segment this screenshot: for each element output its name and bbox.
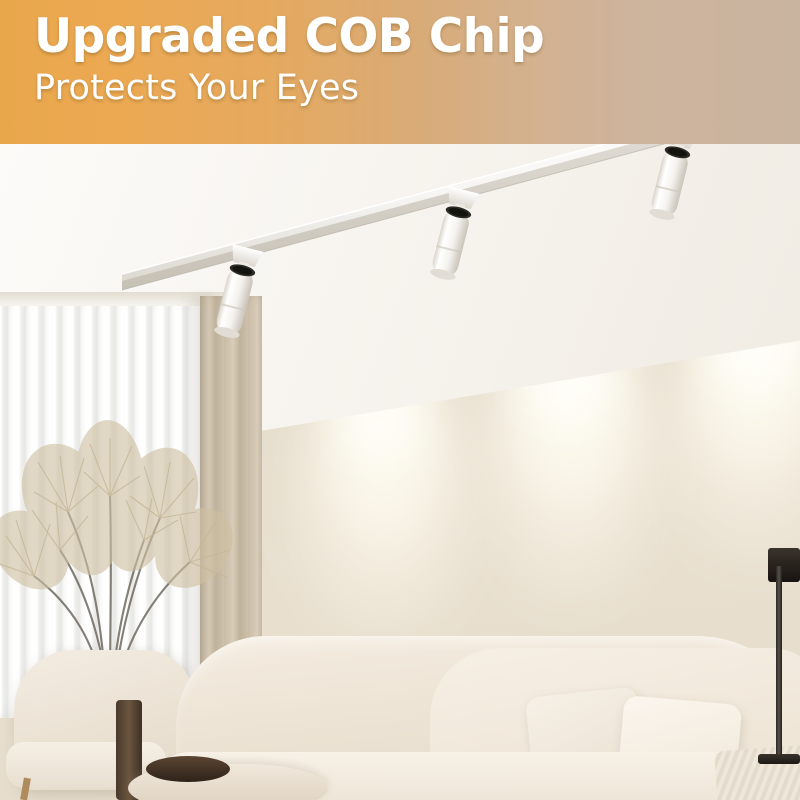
product-marketing-image: Upgraded COB Chip Protects Your Eyes CRI… bbox=[0, 0, 800, 800]
feature-badge-group: CRI≥80 No Flicker Anti- glare Blue Light… bbox=[0, 672, 800, 800]
page-subtitle: Protects Your Eyes bbox=[34, 69, 774, 108]
dried-pampas-plant bbox=[0, 400, 244, 690]
floor-lamp-head bbox=[768, 548, 800, 582]
headline-banner: Upgraded COB Chip Protects Your Eyes bbox=[0, 0, 800, 144]
page-title: Upgraded COB Chip bbox=[34, 12, 774, 62]
